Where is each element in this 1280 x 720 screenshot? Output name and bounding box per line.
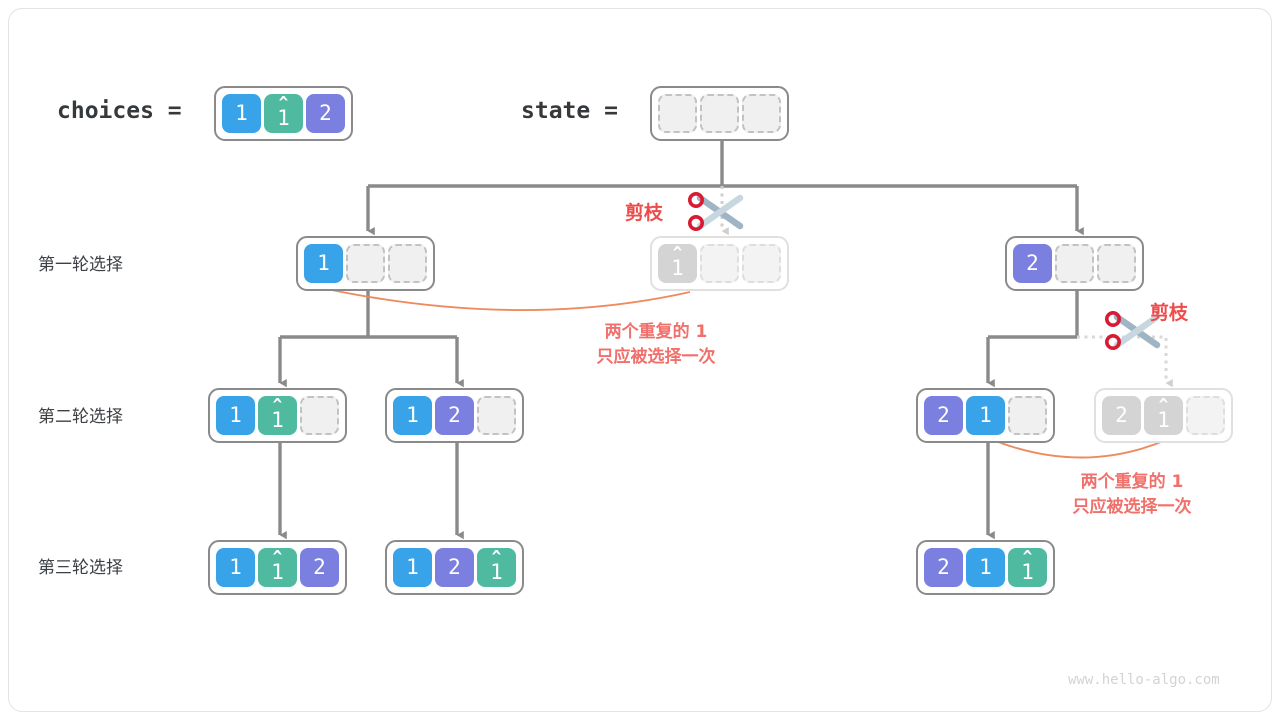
r2_a-cell-0: 1 <box>216 396 255 435</box>
r1_left-cell-2 <box>388 244 427 283</box>
duplicate-note-left: 两个重复的 1 只应被选择一次 <box>551 320 761 369</box>
prune-label-top: 剪枝 <box>625 198 663 225</box>
r2_c-cell-2 <box>1008 396 1047 435</box>
r2_a-cell-1: ^1 <box>258 396 297 435</box>
cell-value: 1 <box>979 405 992 426</box>
hat-marker-icon: ^ <box>264 95 303 111</box>
r1_right-cell-0: 2 <box>1013 244 1052 283</box>
r3_c-cell-1: 1 <box>966 548 1005 587</box>
hat-marker-icon: ^ <box>658 245 697 261</box>
choices-cell-0: 1 <box>222 94 261 133</box>
duplicate-note-right-line2: 只应被选择一次 <box>1027 495 1237 520</box>
choices-cell-1: ^1 <box>264 94 303 133</box>
cell-value: 1 <box>979 557 992 578</box>
r1_mid-cell-0: ^1 <box>658 244 697 283</box>
r2_c-cell-0: 2 <box>924 396 963 435</box>
r3_a-cell-2: 2 <box>300 548 339 587</box>
hat-marker-icon: ^ <box>258 549 297 565</box>
cell-value: 2 <box>1115 405 1128 426</box>
state-cell-2 <box>742 94 781 133</box>
r2_c-cell-1: 1 <box>966 396 1005 435</box>
duplicate-note-left-line1: 两个重复的 1 <box>551 320 761 345</box>
r2_d-cell-2 <box>1186 396 1225 435</box>
node-round1-choice-1: 1 <box>296 236 435 291</box>
cell-value: 1 <box>235 103 248 124</box>
node-round3-1-2-1hat: 12^1 <box>385 540 524 595</box>
r3_b-cell-0: 1 <box>393 548 432 587</box>
hat-marker-icon: ^ <box>477 549 516 565</box>
prune-label-right: 剪枝 <box>1150 298 1188 325</box>
r3_a-cell-1: ^1 <box>258 548 297 587</box>
choices-cell-2: 2 <box>306 94 345 133</box>
cell-value: 2 <box>448 557 461 578</box>
state-array <box>650 86 789 141</box>
r1_mid-cell-2 <box>742 244 781 283</box>
r2_d-cell-0: 2 <box>1102 396 1141 435</box>
hat-marker-icon: ^ <box>1008 549 1047 565</box>
row-label-round-2: 第二轮选择 <box>38 402 123 427</box>
r3_b-cell-1: 2 <box>435 548 474 587</box>
r3_a-cell-0: 1 <box>216 548 255 587</box>
cell-value: 1 <box>229 405 242 426</box>
r1_left-cell-1 <box>346 244 385 283</box>
cell-value: 1 <box>317 253 330 274</box>
choices-array: 1^12 <box>214 86 353 141</box>
node-round1-choice-2: 2 <box>1005 236 1144 291</box>
cell-value: 2 <box>937 557 950 578</box>
r3_c-cell-2: ^1 <box>1008 548 1047 587</box>
r2_b-cell-2 <box>477 396 516 435</box>
node-round2-2-1: 21 <box>916 388 1055 443</box>
node-round1-pruned: ^1 <box>650 236 789 291</box>
cell-value: 2 <box>448 405 461 426</box>
r2_b-cell-1: 2 <box>435 396 474 435</box>
hat-marker-icon: ^ <box>258 397 297 413</box>
watermark: www.hello-algo.com <box>1068 672 1220 688</box>
state-cell-0 <box>658 94 697 133</box>
r1_right-cell-2 <box>1097 244 1136 283</box>
cell-value: 2 <box>319 103 332 124</box>
r2_d-cell-1: ^1 <box>1144 396 1183 435</box>
row-label-round-3: 第三轮选择 <box>38 553 123 578</box>
hat-marker-icon: ^ <box>1144 397 1183 413</box>
row-label-round-1: 第一轮选择 <box>38 250 123 275</box>
diagram-canvas: choices = 1^12 state = 第一轮选择 第二轮选择 第三轮选择… <box>0 0 1280 720</box>
duplicate-note-left-line2: 只应被选择一次 <box>551 345 761 370</box>
cell-value: 1 <box>406 405 419 426</box>
cell-value: 2 <box>937 405 950 426</box>
node-round3-2-1-1hat: 21^1 <box>916 540 1055 595</box>
node-round2-pruned: 2^1 <box>1094 388 1233 443</box>
r3_c-cell-0: 2 <box>924 548 963 587</box>
node-round2-1-1hat: 1^1 <box>208 388 347 443</box>
duplicate-note-right: 两个重复的 1 只应被选择一次 <box>1027 470 1237 519</box>
cell-value: 2 <box>313 557 326 578</box>
state-cell-1 <box>700 94 739 133</box>
r2_a-cell-2 <box>300 396 339 435</box>
node-round3-1-1hat-2: 1^12 <box>208 540 347 595</box>
duplicate-note-right-line1: 两个重复的 1 <box>1027 470 1237 495</box>
cell-value: 1 <box>406 557 419 578</box>
r1_mid-cell-1 <box>700 244 739 283</box>
r3_b-cell-2: ^1 <box>477 548 516 587</box>
cell-value: 1 <box>229 557 242 578</box>
r2_b-cell-0: 1 <box>393 396 432 435</box>
node-round2-1-2: 12 <box>385 388 524 443</box>
state-label: state = <box>521 98 618 124</box>
r1_right-cell-1 <box>1055 244 1094 283</box>
r1_left-cell-0: 1 <box>304 244 343 283</box>
choices-label: choices = <box>57 98 182 124</box>
cell-value: 2 <box>1026 253 1039 274</box>
